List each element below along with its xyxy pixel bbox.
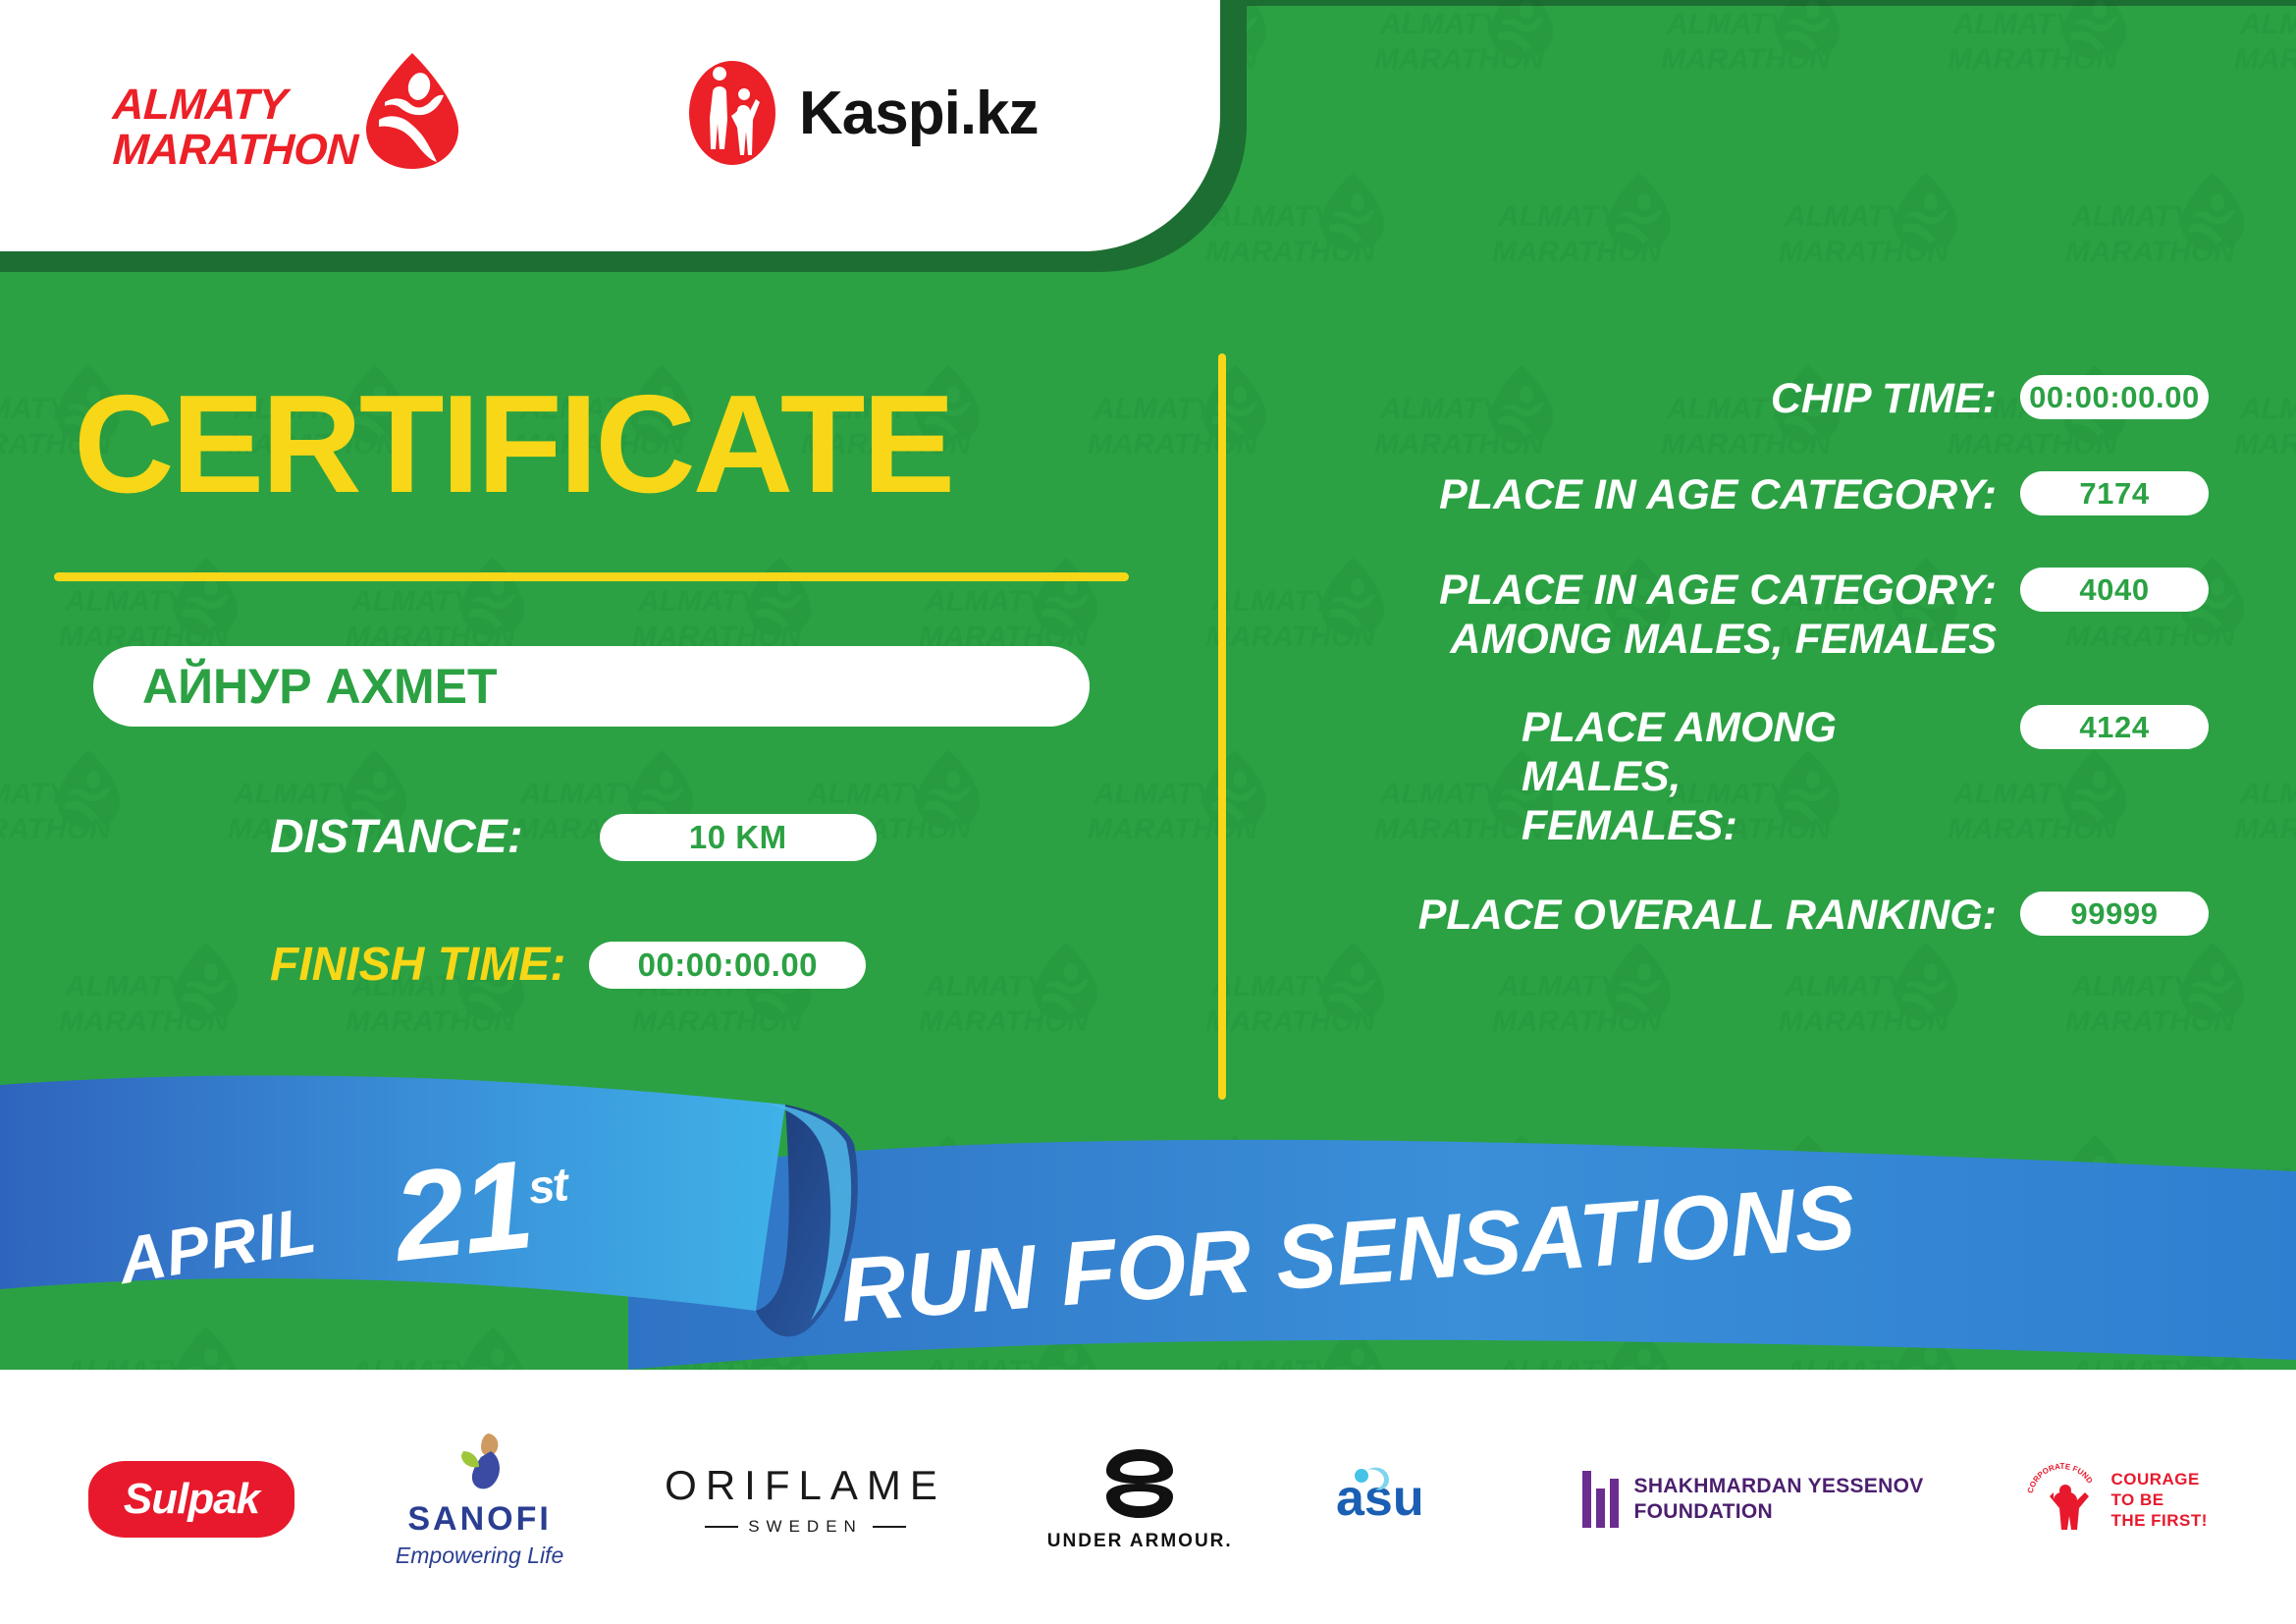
title-underline xyxy=(54,572,1129,581)
svg-text:MARATHON: MARATHON xyxy=(2234,428,2296,460)
stat-place-age-category: PLACE IN AGE CATEGORY: 7174 xyxy=(1266,469,2209,520)
oriflame-sweden-label: SWEDEN xyxy=(748,1517,863,1537)
stat-value: 00:00:00.00 xyxy=(2020,375,2209,419)
svg-text:MARATHON: MARATHON xyxy=(2234,813,2296,845)
svg-text:ALMATY: ALMATY xyxy=(1379,1163,1504,1195)
almaty-marathon-line2: MARATHON xyxy=(112,128,359,173)
stat-label: CHIP TIME: xyxy=(1266,373,2020,424)
svg-text:ALMATY: ALMATY xyxy=(2239,8,2296,40)
courage-fund-icon: CORPORATE FUND xyxy=(2024,1461,2101,1538)
stat-place-among-gender: PLACE AMONG MALES, FEMALES: 4124 xyxy=(1266,703,2209,850)
svg-text:ALMATY: ALMATY xyxy=(64,1355,188,1370)
yessenov-line1: SHAKHMARDAN YESSENOV xyxy=(1634,1474,1924,1499)
sponsor-bar: Sulpak SANOFI Empowering Life ORIFLAME S… xyxy=(0,1375,2296,1624)
courage-line1: COURAGE xyxy=(2110,1469,2208,1489)
courage-line2: TO BE xyxy=(2110,1489,2208,1510)
stat-place-overall: PLACE OVERALL RANKING: 99999 xyxy=(1266,890,2209,941)
svg-text:MARATHON: MARATHON xyxy=(1205,1005,1376,1038)
courage-fund-label: COURAGE TO BE THE FIRST! xyxy=(2110,1469,2208,1531)
svg-text:ALMATY: ALMATY xyxy=(2070,200,2195,233)
distance-row: DISTANCE: 10 KM xyxy=(270,810,1222,864)
ribbon-day-number: 21 xyxy=(388,1134,538,1288)
sponsor-under-armour: UNDER ARMOUR. xyxy=(1047,1447,1233,1552)
distance-label: DISTANCE: xyxy=(270,810,523,864)
svg-text:ALMATY: ALMATY xyxy=(1497,200,1622,233)
svg-text:ALMATY: ALMATY xyxy=(637,1355,762,1370)
svg-text:MARATHON: MARATHON xyxy=(1492,236,1663,268)
almaty-marathon-logo: ALMATY MARATHON xyxy=(113,51,461,173)
left-column: CERTIFICATE АЙНУР АХМЕТ DISTANCE: 10 KM … xyxy=(0,295,1222,1139)
courage-line3: THE FIRST! xyxy=(2110,1510,2208,1531)
watermark-tile: ALMATYMARATHON xyxy=(2065,1318,2276,1370)
svg-text:ALMATY: ALMATY xyxy=(1784,200,1908,233)
svg-text:MARATHON: MARATHON xyxy=(1948,1198,2118,1230)
participant-name-field: АЙНУР АХМЕТ xyxy=(93,646,1090,727)
asu-logo: asu xyxy=(1334,1462,1481,1538)
watermark-tile: ALMATYMARATHON xyxy=(1205,1318,1416,1370)
distance-value: 10 KM xyxy=(600,814,877,861)
sponsor-sulpak: Sulpak xyxy=(88,1461,294,1538)
finish-time-label: FINISH TIME: xyxy=(270,938,565,992)
stat-label: PLACE AMONG MALES, FEMALES: xyxy=(1512,703,2020,850)
participant-name-value: АЙНУР АХМЕТ xyxy=(142,658,498,715)
header-panel: ALMATY MARATHON xyxy=(0,0,1306,285)
under-armour-label: UNDER ARMOUR. xyxy=(1047,1531,1233,1552)
svg-text:MARATHON: MARATHON xyxy=(1948,43,2118,76)
certificate-title: CERTIFICATE xyxy=(74,375,952,514)
oriflame-sub: SWEDEN xyxy=(705,1517,906,1537)
almaty-marathon-line1: ALMATY xyxy=(112,82,359,128)
stat-value: 4124 xyxy=(2020,705,2209,749)
kaspi-people-icon xyxy=(687,59,777,167)
certificate-canvas: ALMATYMARATHONALMATYMARATHONALMATYMARATH… xyxy=(0,0,2296,1624)
svg-text:ALMATY: ALMATY xyxy=(233,1163,357,1195)
sponsor-sanofi: SANOFI Empowering Life xyxy=(396,1430,563,1569)
bar-1 xyxy=(1582,1471,1591,1528)
svg-text:asu: asu xyxy=(1336,1470,1424,1527)
svg-text:MARATHON: MARATHON xyxy=(2234,1198,2296,1230)
svg-text:MARATHON: MARATHON xyxy=(1779,1005,1949,1038)
yessenov-label: SHAKHMARDAN YESSENOV FOUNDATION xyxy=(1634,1474,1924,1525)
watermark-tile: ALMATYMARATHON xyxy=(59,1318,270,1370)
almaty-marathon-wordmark: ALMATY MARATHON xyxy=(113,82,357,173)
watermark-tile: ALMATYMARATHON xyxy=(1779,1318,1990,1370)
svg-text:ALMATY: ALMATY xyxy=(2070,1355,2195,1370)
sponsor-yessenov-foundation: SHAKHMARDAN YESSENOV FOUNDATION xyxy=(1582,1471,1924,1528)
svg-text:ALMATY: ALMATY xyxy=(1952,1163,2077,1195)
svg-text:ALMATY: ALMATY xyxy=(924,1355,1048,1370)
watermark-tile: ALMATYMARATHON xyxy=(2065,163,2276,310)
svg-text:ALMATY: ALMATY xyxy=(2239,778,2296,810)
watermark-tile: ALMATYMARATHON xyxy=(1492,1318,1703,1370)
kaspi-wordmark: Kaspi.kz xyxy=(799,79,1039,148)
stat-value: 4040 xyxy=(2020,568,2209,612)
watermark-tile: ALMATYMARATHON xyxy=(1948,0,2159,118)
yessenov-line2: FOUNDATION xyxy=(1634,1499,1924,1525)
svg-text:ALMATY: ALMATY xyxy=(1784,1355,1908,1370)
svg-text:ALMATY: ALMATY xyxy=(0,1163,71,1195)
watermark-tile: ALMATYMARATHON xyxy=(1661,0,1872,118)
sanofi-label: SANOFI xyxy=(407,1500,551,1539)
ribbon-day: 21st xyxy=(388,1128,575,1290)
watermark-tile: ALMATYMARATHON xyxy=(2234,0,2296,118)
finish-time-row: FINISH TIME: 00:00:00.00 xyxy=(270,938,1222,992)
finish-time-value: 00:00:00.00 xyxy=(589,942,866,989)
svg-text:MARATHON: MARATHON xyxy=(2065,1005,2236,1038)
svg-text:MARATHON: MARATHON xyxy=(2234,43,2296,76)
svg-text:ALMATY: ALMATY xyxy=(1093,1163,1217,1195)
watermark-tile: ALMATYMARATHON xyxy=(632,1318,843,1370)
sponsor-asu: asu xyxy=(1334,1462,1481,1538)
oriflame-rule-right xyxy=(873,1526,906,1528)
watermark-tile: ALMATYMARATHON xyxy=(1374,0,1585,118)
svg-text:ALMATY: ALMATY xyxy=(1666,8,1790,40)
watermark-tile: ALMATYMARATHON xyxy=(1492,163,1703,310)
sanofi-icon xyxy=(452,1430,508,1494)
stat-value: 99999 xyxy=(2020,892,2209,936)
oriflame-label: ORIFLAME xyxy=(665,1462,946,1509)
bar-2 xyxy=(1596,1489,1605,1528)
watermark-tile: ALMATYMARATHON xyxy=(346,1318,557,1370)
svg-text:MARATHON: MARATHON xyxy=(2065,236,2236,268)
svg-text:MARATHON: MARATHON xyxy=(1374,43,1545,76)
stat-label: PLACE IN AGE CATEGORY: AMONG MALES, FEMA… xyxy=(1266,566,2020,664)
ribbon-day-suffix: st xyxy=(526,1159,569,1215)
svg-text:ALMATY: ALMATY xyxy=(2239,1163,2296,1195)
watermark-tile: ALMATYMARATHON xyxy=(1948,1125,2159,1272)
oriflame-rule-left xyxy=(705,1526,738,1528)
watermark-tile: ALMATYMARATHON xyxy=(1779,163,1990,310)
column-divider xyxy=(1218,353,1226,1100)
kaspi-logo: Kaspi.kz xyxy=(687,59,1039,167)
stat-place-age-category-gender: PLACE IN AGE CATEGORY: AMONG MALES, FEMA… xyxy=(1266,566,2209,664)
svg-text:MARATHON: MARATHON xyxy=(801,1198,972,1230)
watermark-tile: ALMATYMARATHON xyxy=(2234,1125,2296,1272)
sponsor-courage-fund: CORPORATE FUND COURAGE TO BE THE FIRST! xyxy=(2024,1461,2208,1538)
runner-drop-icon xyxy=(363,51,461,171)
watermark-tile: ALMATYMARATHON xyxy=(2234,740,2296,888)
stat-label: PLACE OVERALL RANKING: xyxy=(1266,890,2020,941)
yessenov-bars-icon xyxy=(1582,1471,1619,1528)
stat-chip-time: CHIP TIME: 00:00:00.00 xyxy=(1266,373,2209,424)
svg-text:ALMATY: ALMATY xyxy=(1379,8,1504,40)
bar-3 xyxy=(1610,1479,1619,1528)
under-armour-icon xyxy=(1077,1447,1202,1525)
sponsor-oriflame: ORIFLAME SWEDEN xyxy=(665,1462,946,1537)
sulpak-label: Sulpak xyxy=(124,1475,259,1524)
stat-value: 7174 xyxy=(2020,471,2209,515)
svg-text:ALMATY: ALMATY xyxy=(1952,8,2077,40)
svg-text:ALMATY: ALMATY xyxy=(350,1355,475,1370)
svg-text:MARATHON: MARATHON xyxy=(0,1198,112,1230)
stat-label: PLACE IN AGE CATEGORY: xyxy=(1266,469,2020,520)
sanofi-tagline: Empowering Life xyxy=(396,1543,563,1569)
svg-text:MARATHON: MARATHON xyxy=(1779,236,1949,268)
svg-text:ALMATY: ALMATY xyxy=(1210,1355,1335,1370)
svg-text:MARATHON: MARATHON xyxy=(1492,1005,1663,1038)
sulpak-logo: Sulpak xyxy=(88,1461,294,1538)
watermark-tile: ALMATYMARATHON xyxy=(2234,355,2296,503)
svg-text:ALMATY: ALMATY xyxy=(2239,393,2296,425)
svg-text:ALMATY: ALMATY xyxy=(1497,1355,1622,1370)
svg-text:ALMATY: ALMATY xyxy=(806,1163,931,1195)
svg-text:MARATHON: MARATHON xyxy=(1661,43,1832,76)
stats-column: CHIP TIME: 00:00:00.00 PLACE IN AGE CATE… xyxy=(1266,373,2209,978)
